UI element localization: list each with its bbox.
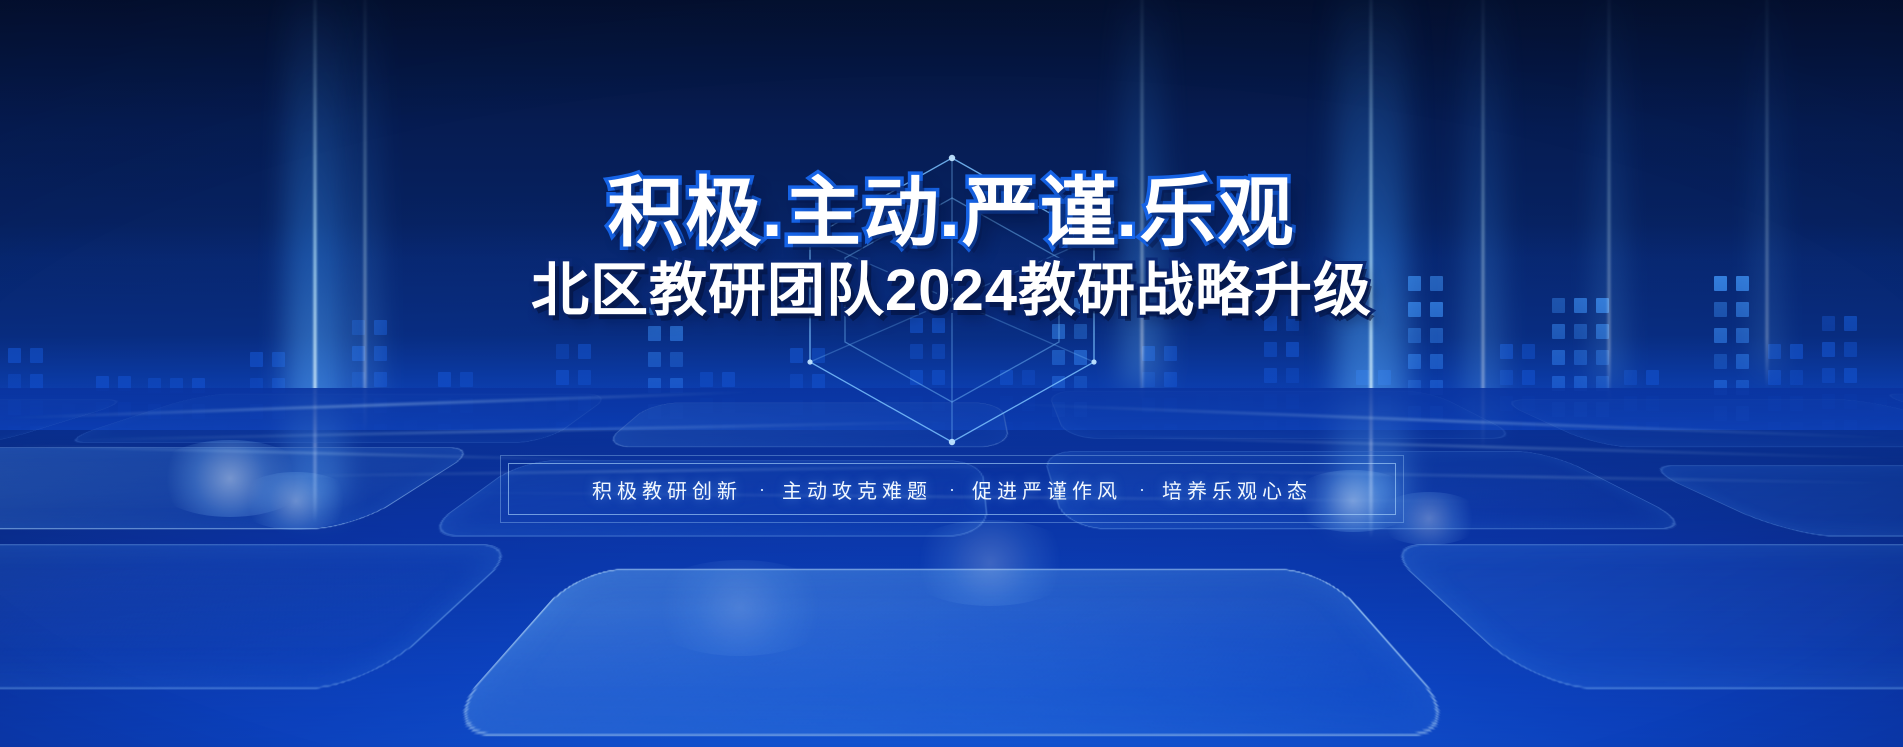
tagline-item-3: 促进严谨作风 <box>972 475 1122 504</box>
tagline-item-1: 积极教研创新 <box>592 475 742 504</box>
tagline-frame: 积极教研创新 · 主动攻克难题 · 促进严谨作风 · 培养乐观心态 <box>508 463 1396 515</box>
title-word-3: 严谨 <box>962 176 1118 252</box>
tagline-separator-3: · <box>1122 479 1162 500</box>
title-word-1: 积极 <box>608 176 764 252</box>
banner-content: 积极·主动·严谨·乐观 北区教研团队2024教研战略升级 积极教研创新 · 主动… <box>0 0 1903 747</box>
tagline-list: 积极教研创新 · 主动攻克难题 · 促进严谨作风 · 培养乐观心态 <box>509 464 1395 514</box>
subtitle-text: 北区教研团队2024教研战略升级 <box>531 262 1372 320</box>
title-word-2: 主动 <box>785 176 941 252</box>
tagline-separator-1: · <box>742 479 782 500</box>
title-word-4: 乐观 <box>1139 176 1295 252</box>
banner-stage: 积极·主动·严谨·乐观 北区教研团队2024教研战略升级 积极教研创新 · 主动… <box>0 0 1903 747</box>
tagline-item-4: 培养乐观心态 <box>1162 475 1312 504</box>
banner-subtitle: 北区教研团队2024教研战略升级 <box>0 262 1903 320</box>
tagline-item-2: 主动攻克难题 <box>782 475 932 504</box>
tagline-separator-2: · <box>932 479 972 500</box>
